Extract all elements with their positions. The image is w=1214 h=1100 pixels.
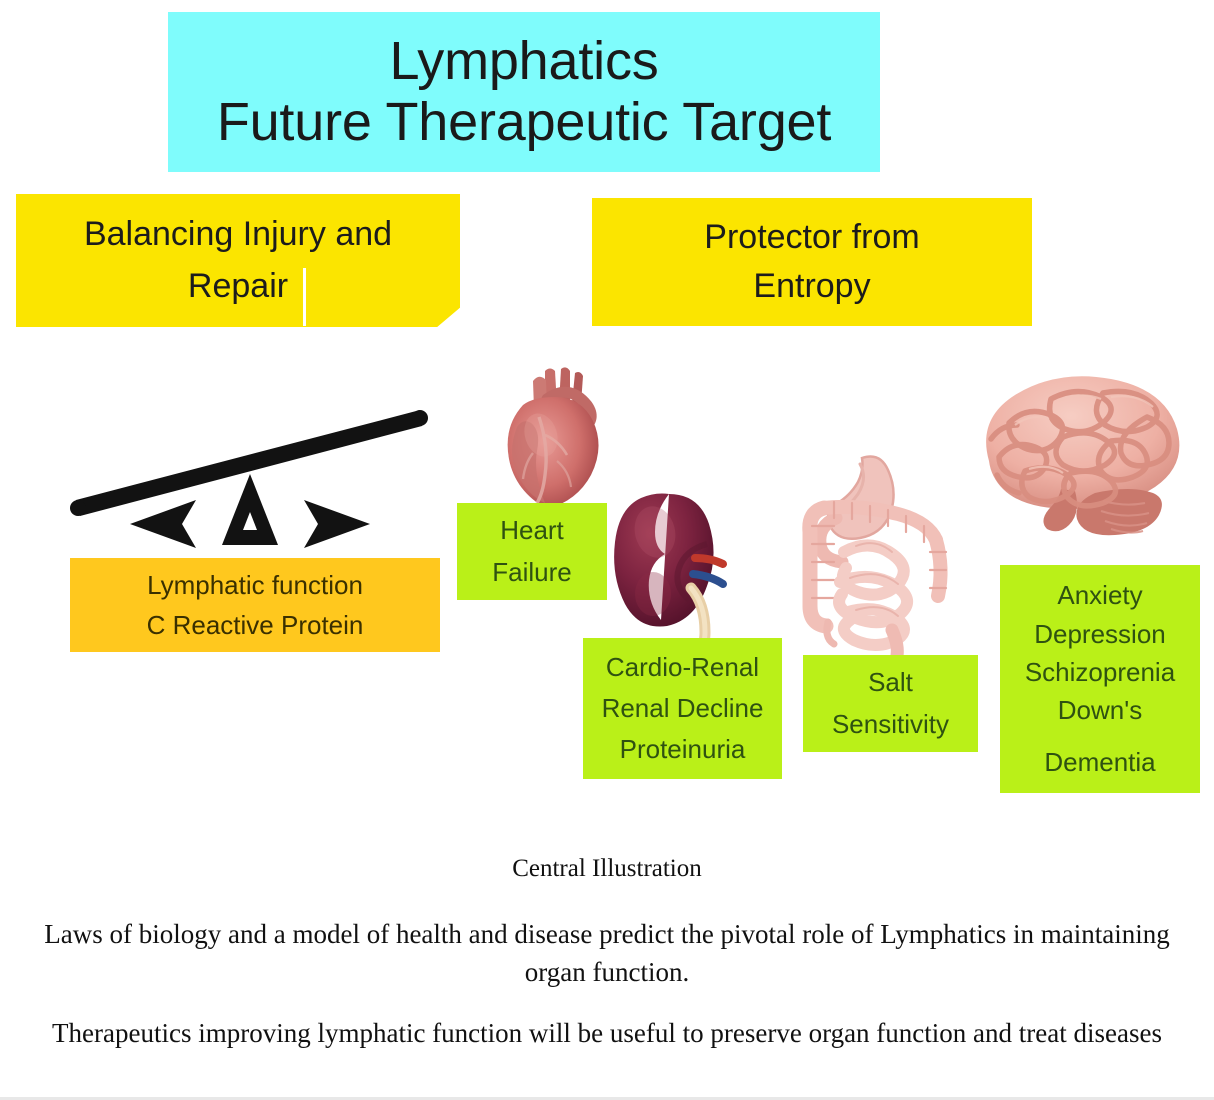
title-line-1: Lymphatics (389, 34, 658, 89)
header-right-line-1: Protector from (704, 213, 919, 262)
label-line: Failure (492, 552, 571, 593)
illustration-canvas: Lymphatics Future Therapeutic Target Bal… (0, 0, 1214, 1100)
label-line: Proteinuria (620, 729, 746, 770)
label-line: Dementia (1044, 743, 1155, 781)
heart-icon (487, 365, 612, 515)
header-left-line-2: Repair (188, 262, 288, 311)
balance-scale-icon (70, 400, 430, 560)
label-salt-sensitivity: Salt Sensitivity (803, 655, 978, 752)
header-balancing-injury-and-repair: Balancing Injury and Repair (16, 194, 460, 327)
label-line: Anxiety (1057, 576, 1142, 614)
intestine-icon (800, 448, 980, 668)
caption-paragraph-2: Therapeutics improving lymphatic functio… (17, 1014, 1197, 1052)
label-line: Schizoprenia (1025, 653, 1175, 691)
label-line: Cardio-Renal (606, 647, 759, 688)
label-heart-failure: Heart Failure (457, 503, 607, 600)
title-banner: Lymphatics Future Therapeutic Target (168, 12, 880, 172)
caption-paragraph-1: Laws of biology and a model of health an… (27, 915, 1187, 992)
header-protector-from-entropy: Protector from Entropy (592, 198, 1032, 326)
header-left-line-1: Balancing Injury and (84, 210, 392, 259)
text-cursor-artifact (303, 268, 306, 326)
caption-block: Central Illustration Laws of biology and… (0, 855, 1214, 1074)
label-line: Depression (1034, 615, 1166, 653)
brain-icon (955, 365, 1195, 555)
label-line: Renal Decline (602, 688, 764, 729)
title-line-2: Future Therapeutic Target (217, 95, 831, 150)
header-right-line-2: Entropy (753, 262, 870, 311)
label-line: Salt (868, 662, 913, 703)
kidney-icon (613, 488, 733, 663)
lymphatic-label-line-2: C Reactive Protein (147, 605, 364, 645)
caption-heading: Central Illustration (0, 855, 1214, 883)
label-cardio-renal: Cardio-Renal Renal Decline Proteinuria (583, 638, 782, 779)
lymphatic-function-label: Lymphatic function C Reactive Protein (70, 558, 440, 652)
label-line: Sensitivity (832, 704, 949, 745)
lymphatic-label-line-1: Lymphatic function (147, 565, 363, 605)
label-line: Down's (1058, 691, 1142, 729)
label-line: Heart (500, 510, 564, 551)
label-neuro-conditions: Anxiety Depression Schizoprenia Down's D… (1000, 565, 1200, 793)
